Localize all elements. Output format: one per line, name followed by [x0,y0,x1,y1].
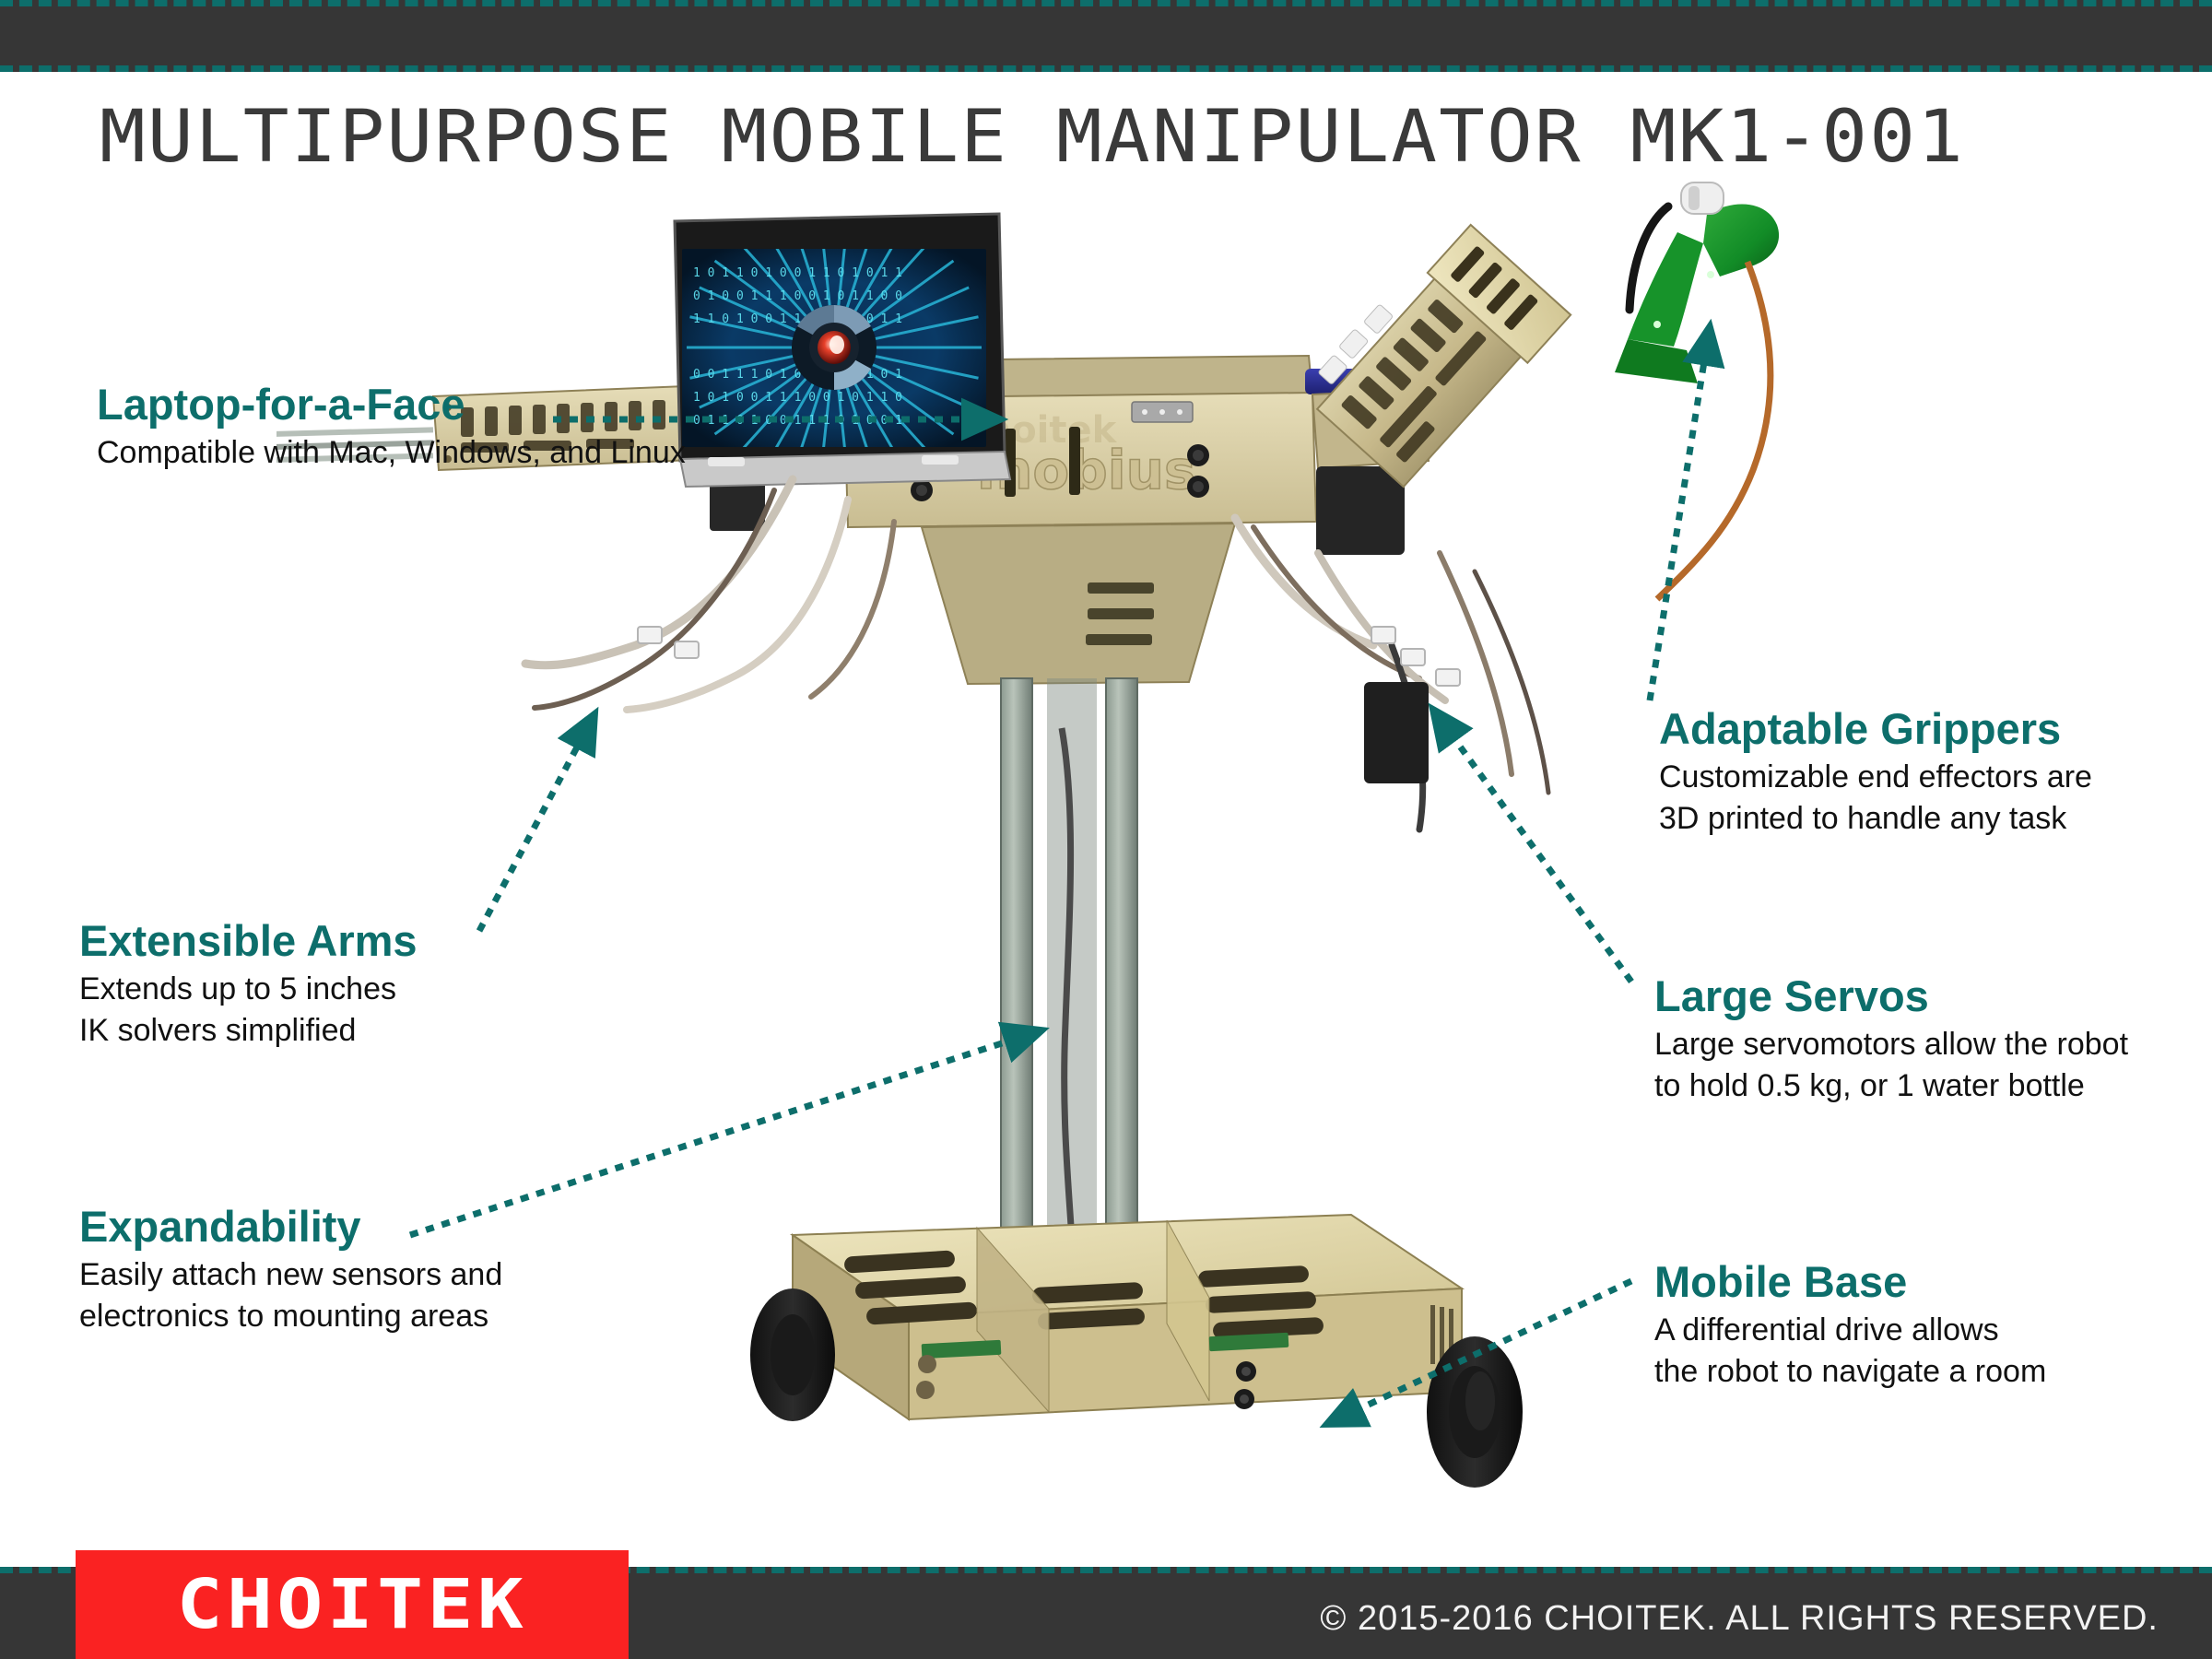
callout-body-line: Compatible with Mac, Windows, and Linux [97,432,686,473]
svg-text:0 0 1 1 1 0 1 0 0 1 1 0 1 0 1: 0 0 1 1 1 0 1 0 0 1 1 0 1 0 1 [693,368,902,382]
mobile-base [750,1215,1523,1488]
callout-body-line: electronics to mounting areas [79,1296,502,1336]
callout-heading: Laptop-for-a-Face [97,382,686,427]
top-bar [0,0,2212,72]
svg-text:0 1 0 0 1 1 1 0 0 1 0 1 1 0 0: 0 1 0 0 1 1 1 0 0 1 0 1 1 0 0 [693,289,902,303]
mast [1001,678,1137,1231]
callout-body-line: Extends up to 5 inches [79,969,418,1009]
callout-adaptable-grippers: Adaptable Grippers Customizable end effe… [1659,706,2092,839]
callout-heading: Extensible Arms [79,918,418,963]
callout-body-line: 3D printed to handle any task [1659,798,2092,839]
callout-heading: Mobile Base [1654,1259,2046,1304]
callout-large-servos: Large Servos Large servomotors allow the… [1654,973,2128,1106]
callout-body-line: Customizable end effectors are [1659,757,2092,797]
callout-body-line: Large servomotors allow the robot [1654,1024,2128,1065]
svg-text:1 0 1 0 0 1 1 1 0 0 1 0 1 1 0: 1 0 1 0 0 1 1 1 0 0 1 0 1 1 0 [693,391,902,405]
callout-laptop-for-a-face: Laptop-for-a-Face Compatible with Mac, W… [97,382,686,474]
callout-body-line: to hold 0.5 kg, or 1 water bottle [1654,1065,2128,1106]
callout-body-line: the robot to navigate a room [1654,1351,2046,1392]
robot-photo: mobius choitek [276,166,1843,1548]
callout-body-line: Easily attach new sensors and [79,1254,502,1295]
callout-body-line: A differential drive allows [1654,1310,2046,1350]
choitek-logo: CHOITEK [76,1550,629,1659]
svg-text:1 1 0 1 0 0 1 1 1 0 1 0 0 1 1: 1 1 0 1 0 0 1 1 1 0 1 0 0 1 1 [693,312,902,326]
callout-heading: Expandability [79,1204,502,1249]
callout-expandability: Expandability Easily attach new sensors … [79,1204,502,1336]
callout-body-line: IK solvers simplified [79,1010,418,1051]
callout-mobile-base: Mobile Base A differential drive allows … [1654,1259,2046,1392]
callout-heading: Large Servos [1654,973,2128,1018]
right-lower-servo [1364,682,1429,783]
screen-eye-icon [792,305,877,390]
callout-heading: Adaptable Grippers [1659,706,2092,751]
infographic-page: MULTIPURPOSE MOBILE MANIPULATOR MK1-001 [0,0,2212,1659]
svg-text:0 1 1 0 1 0 0 1 1 1 0 1 0 0 1: 0 1 1 0 1 0 0 1 1 1 0 1 0 0 1 [693,414,902,428]
callout-extensible-arms: Extensible Arms Extends up to 5 inches I… [79,918,418,1051]
svg-text:1 0 1 1 0 1 0 0 1 1 0 1 0 1 1: 1 0 1 1 0 1 0 0 1 1 0 1 0 1 1 [693,266,902,280]
laptop: 1 0 1 1 0 1 0 0 1 1 0 1 0 1 1 0 1 0 0 1 … [675,201,1010,494]
logo-text: CHOITEK [177,1565,528,1644]
copyright-notice: © 2015-2016 CHOITEK. ALL RIGHTS RESERVED… [1320,1599,2159,1639]
